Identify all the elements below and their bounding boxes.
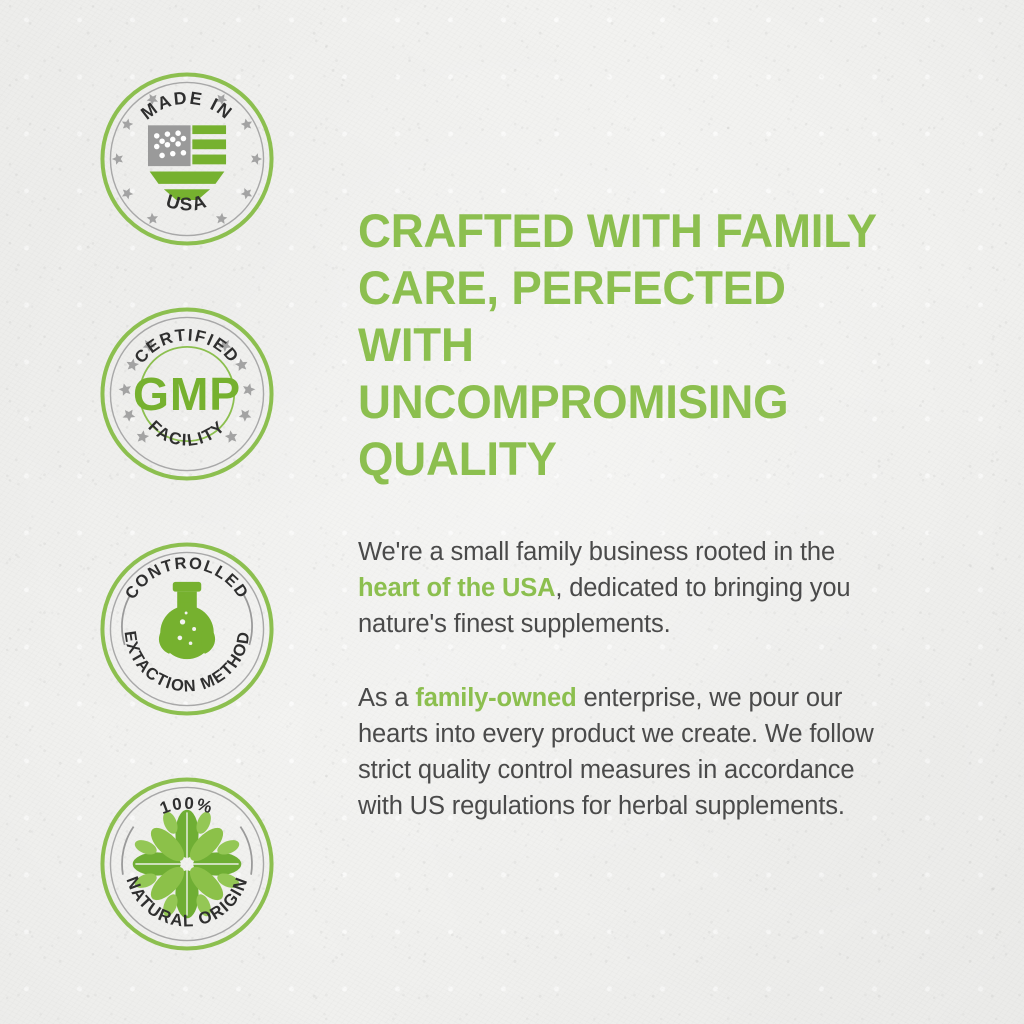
content-column: CRAFTED WITH FAMILY CARE, PERFECTED WITH… [358,202,914,824]
made-in-usa-badge-graphic: MADE IN USA [98,70,276,248]
badge-right-arc-accent [240,827,252,875]
badge-left-arc-accent [122,827,134,875]
badge-bottom-label: USA [164,190,211,215]
body-copy: We're a small family business rooted in … [358,534,878,824]
usa-flag-circle-icon [148,125,228,200]
badge-made-in-usa: MADE IN USA [98,70,276,248]
highlighted-phrase: heart of the USA [358,574,555,602]
natural-origin-badge-graphic: 100% NATURAL ORIGIN [98,775,276,953]
badge-bottom-label: FACILITY [145,417,230,450]
gmp-badge-graphic: GMP CERTIFIED FACILITY [98,305,276,483]
page-title: CRAFTED WITH FAMILY CARE, PERFECTED WITH… [358,202,897,487]
badge-top-label: MADE IN [137,87,237,123]
paragraph-1: We're a small family business rooted in … [358,534,878,642]
poster-stage: MADE IN USA [0,0,1024,1024]
trust-badge-column: MADE IN USA [98,70,278,953]
extraction-badge-graphic: CONTROLLED EXTACTION METHOD [98,540,276,718]
paragraph-2: As a family-owned enterprise, we pour ou… [358,680,878,824]
badge-controlled-extaction-method: CONTROLLED EXTACTION METHOD [98,540,276,718]
paragraph-text: As a [358,684,415,712]
highlighted-phrase: family-owned [415,684,576,712]
paragraph-text: We're a small family business rooted in … [358,538,835,566]
gmp-text-icon: GMP [133,368,241,420]
badge-natural-origin: 100% NATURAL ORIGIN [98,775,276,953]
badge-gmp-certified-facility: GMP CERTIFIED FACILITY [98,305,276,483]
